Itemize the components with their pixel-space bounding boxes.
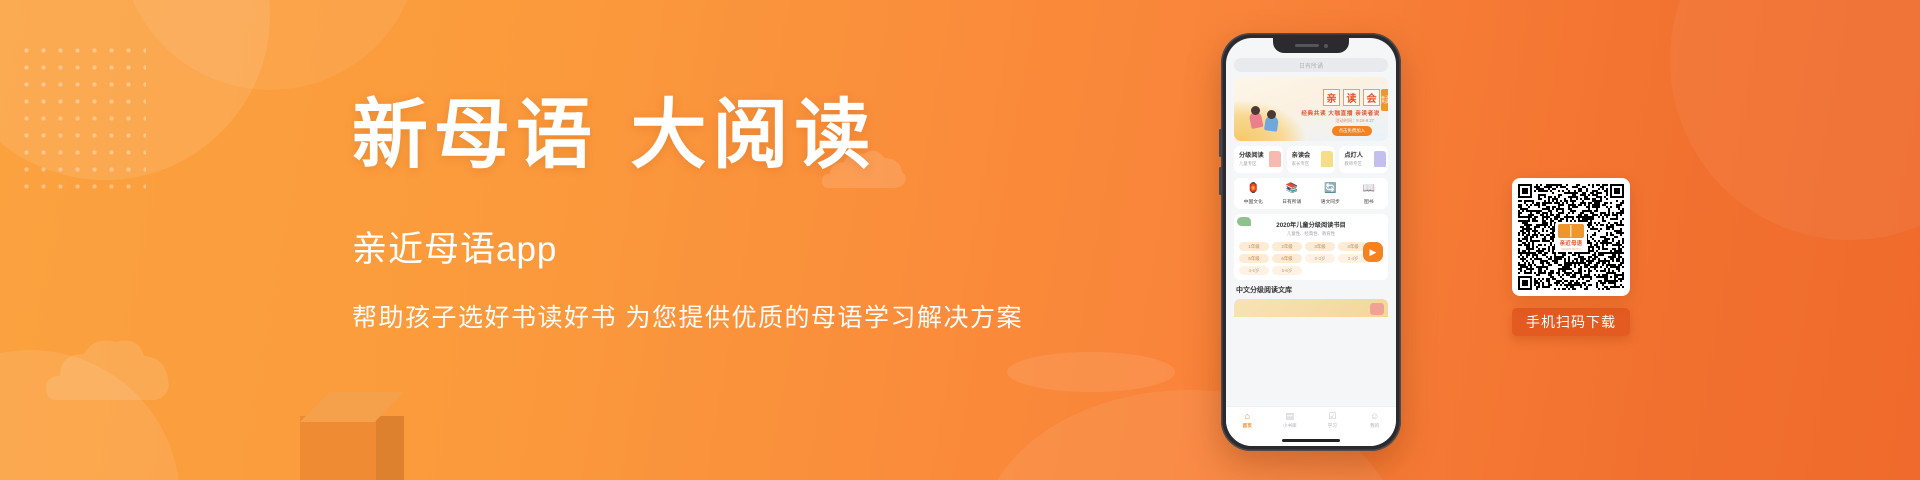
- phone-mockup: 日有所诵 亲 读 会 亲子共读 经典共读 大咖直播 亲读者说 活动时间：9.16…: [1221, 33, 1401, 451]
- library-card-thumb: [1370, 303, 1384, 315]
- hero-subtitle: 经典共读 大咖直播 亲读者说: [1301, 109, 1380, 117]
- speaker-icon: [1295, 44, 1319, 47]
- brand-name: 亲近母语: [1560, 239, 1583, 247]
- tab-label: 我的: [1370, 423, 1379, 429]
- quick-link-sync-chinese[interactable]: 🔄 语文同步: [1311, 183, 1350, 205]
- booklist-subtitle: 儿童性、经典性、教育性: [1239, 231, 1383, 237]
- decor-dot-grid: [18, 42, 146, 192]
- banner-tagline: 帮助孩子选好书读好书 为您提供优质的母语学习解决方案: [352, 298, 1072, 334]
- tab-label: 学习: [1328, 423, 1337, 429]
- video-play-button[interactable]: ▶: [1363, 242, 1383, 262]
- tab-library[interactable]: ▤ 小书库: [1269, 412, 1312, 429]
- quick-link-grid: 🏮 中国文化 📚 日有所诵 🔄 语文同步 📖 图书: [1234, 178, 1388, 209]
- user-icon: ☺: [1370, 412, 1379, 421]
- library-icon: ▤: [1285, 412, 1294, 421]
- age-tag[interactable]: 0-3岁: [1305, 254, 1335, 263]
- leaf-icon: [1237, 217, 1251, 226]
- scan-download-button[interactable]: 手机扫码下载: [1512, 308, 1630, 336]
- grade-tag[interactable]: 1年级: [1239, 242, 1269, 251]
- sync-icon: 🔄: [1325, 183, 1336, 195]
- tab-label: 首页: [1243, 423, 1252, 429]
- quick-link-label: 语文同步: [1321, 198, 1340, 205]
- checklist-icon: ☑: [1328, 412, 1336, 421]
- hero-title-char-2: 读: [1343, 89, 1360, 106]
- category-card-graded-reading[interactable]: 分级阅读 儿童专区: [1234, 146, 1283, 173]
- app-home-screen: 日有所诵 亲 读 会 亲子共读 经典共读 大咖直播 亲读者说 活动时间：9.16…: [1226, 38, 1396, 446]
- book-icon: 📖: [1363, 183, 1374, 195]
- download-block: 亲近母语 QINJIN MUYU 手机扫码下载: [1512, 178, 1630, 336]
- promo-banner: 新母语 大阅读 亲近母语app 帮助孩子选好书读好书 为您提供优质的母语学习解决…: [0, 0, 1920, 480]
- brand-name-pinyin: QINJIN MUYU: [1561, 248, 1580, 251]
- hero-banner[interactable]: 亲 读 会 亲子共读 经典共读 大咖直播 亲读者说 活动时间：9.16-9.27…: [1234, 77, 1388, 141]
- category-card-teacher[interactable]: 点灯人 教师专区: [1339, 146, 1388, 173]
- camera-icon: [1324, 44, 1328, 48]
- grade-tag[interactable]: 5年级: [1239, 254, 1269, 263]
- decor-circle-top-left-2: [120, 0, 420, 90]
- quick-link-label: 中国文化: [1244, 198, 1263, 205]
- brand-logo: 亲近母语 QINJIN MUYU: [1555, 222, 1587, 252]
- home-icon: ⌂: [1245, 412, 1250, 421]
- page-title: 新母语 大阅读: [352, 92, 1072, 177]
- quick-link-label: 图书: [1364, 198, 1374, 205]
- decor-circle-top-left: [0, 0, 270, 180]
- home-indicator: [1282, 439, 1340, 442]
- grade-tag[interactable]: 6年级: [1272, 254, 1302, 263]
- grade-tag[interactable]: 3年级: [1305, 242, 1335, 251]
- qr-code: 亲近母语 QINJIN MUYU: [1512, 178, 1630, 296]
- search-input[interactable]: 日有所诵: [1234, 58, 1388, 72]
- quick-link-books[interactable]: 📖 图书: [1350, 183, 1389, 205]
- decor-cube: [300, 416, 404, 480]
- tab-study[interactable]: ☑ 学习: [1311, 412, 1354, 429]
- books-icon: 📚: [1286, 183, 1297, 195]
- age-tag[interactable]: 4-5岁: [1239, 266, 1269, 275]
- banner-subtitle: 亲近母语app: [352, 221, 1072, 272]
- banner-copy: 新母语 大阅读 亲近母语app 帮助孩子选好书读好书 为您提供优质的母语学习解决…: [352, 92, 1072, 334]
- lamp-icon: [1374, 151, 1386, 167]
- hero-title-char-1: 亲: [1323, 89, 1340, 106]
- open-book-icon: [1558, 224, 1584, 238]
- booklist-title: 2020年儿童分级阅读书目: [1239, 220, 1383, 229]
- age-tag[interactable]: 5-6岁: [1272, 266, 1302, 275]
- hero-child-blue-head: [1267, 110, 1276, 119]
- decor-cube-top: [300, 392, 404, 422]
- category-card-parent-club[interactable]: 亲读会 家长专区: [1287, 146, 1336, 173]
- library-card[interactable]: [1234, 299, 1388, 317]
- category-cards: 分级阅读 儿童专区 亲读会 家长专区 点灯人 教师专区: [1234, 146, 1388, 173]
- grade-tag[interactable]: 2年级: [1272, 242, 1302, 251]
- tab-profile[interactable]: ☺ 我的: [1354, 412, 1397, 429]
- booklist-section: 2020年儿童分级阅读书目 儿童性、经典性、教育性 1年级 2年级 3年级 ▶ …: [1234, 214, 1388, 280]
- hero-title: 亲 读 会: [1323, 89, 1380, 106]
- hero-badge: 亲子共读: [1381, 89, 1388, 111]
- hero-child-pink-head: [1251, 106, 1260, 115]
- hero-title-char-3: 会: [1363, 89, 1380, 106]
- phone-notch: [1273, 38, 1349, 53]
- cloud-icon-bottom-left: [44, 334, 174, 404]
- library-section-title: 中文分级阅读文库: [1236, 285, 1386, 295]
- tab-home[interactable]: ⌂ 首页: [1226, 412, 1269, 429]
- quick-link-label: 日有所诵: [1282, 198, 1301, 205]
- decor-circle-right: [1670, 0, 1920, 240]
- quick-link-chinese-culture[interactable]: 🏮 中国文化: [1234, 183, 1273, 205]
- phone-screen: 日有所诵 亲 读 会 亲子共读 经典共读 大咖直播 亲读者说 活动时间：9.16…: [1226, 38, 1396, 446]
- hero-join-button[interactable]: 点击免费加入: [1332, 126, 1372, 136]
- lantern-icon: 🏮: [1248, 183, 1259, 195]
- quick-link-daily-recitation[interactable]: 📚 日有所诵: [1273, 183, 1312, 205]
- grade-tag-list: 1年级 2年级 3年级 ▶ 4年级 5年级 6年级 0-3岁 3-4岁 4-5岁…: [1239, 242, 1383, 275]
- tab-label: 小书库: [1283, 423, 1297, 429]
- note-icon: [1321, 151, 1333, 167]
- bookmark-icon: [1269, 151, 1281, 167]
- hero-date: 活动时间：9.16-9.27: [1335, 118, 1374, 124]
